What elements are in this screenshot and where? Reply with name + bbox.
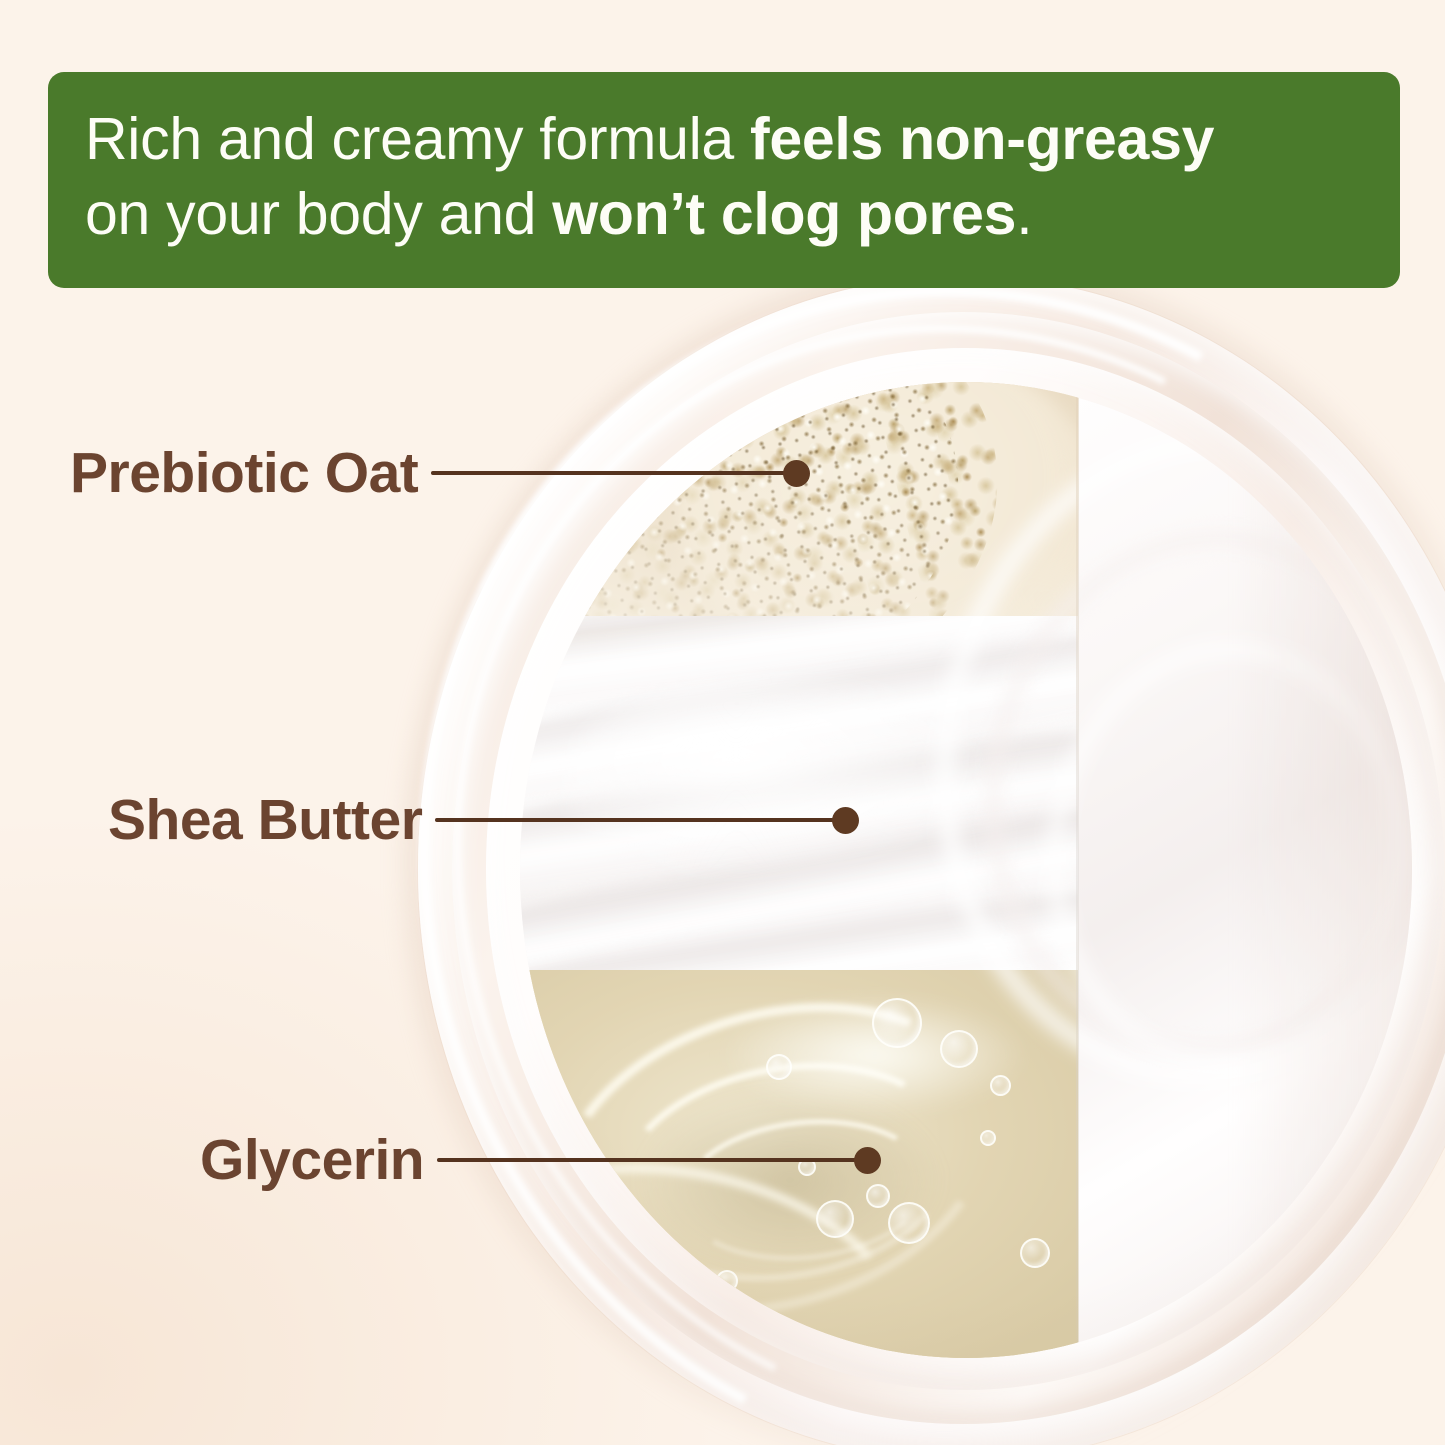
glycerin-bubble xyxy=(980,1130,996,1146)
callout-prebiotic-oat: Prebiotic Oat xyxy=(70,443,810,503)
glycerin-bubble xyxy=(888,1202,930,1244)
headline-text: Rich and creamy formula feels non-greasy… xyxy=(85,102,1360,252)
headline-line1-bold: feels non-greasy xyxy=(750,106,1214,172)
headline-line2-bold: won’t clog pores xyxy=(552,181,1016,247)
callout-label: Prebiotic Oat xyxy=(70,445,418,502)
callout-label: Glycerin xyxy=(200,1132,424,1189)
product-infographic: Rich and creamy formula feels non-greasy… xyxy=(0,0,1445,1445)
headline-line1-plain: Rich and creamy formula xyxy=(85,106,750,172)
glycerin-bubble xyxy=(940,1030,978,1068)
headline-line2-tail: . xyxy=(1016,181,1032,247)
glycerin-bubble xyxy=(872,998,922,1048)
callout-dot-icon xyxy=(854,1147,881,1174)
glycerin-bubble xyxy=(716,1270,738,1292)
shea-highlight xyxy=(560,676,1000,886)
segment-seam xyxy=(1076,382,1079,1358)
leader-line xyxy=(437,1158,857,1162)
glycerin-bubble xyxy=(766,1054,792,1080)
segment-whipped-cream xyxy=(1078,382,1412,1358)
leader-line xyxy=(435,818,835,822)
callout-dot-icon xyxy=(783,460,810,487)
callout-dot-icon xyxy=(832,807,859,834)
cream-shadow xyxy=(1232,382,1412,1358)
headline-banner: Rich and creamy formula feels non-greasy… xyxy=(48,72,1400,288)
glycerin-bubble xyxy=(990,1075,1011,1096)
callout-shea-butter: Shea Butter xyxy=(108,790,859,850)
callout-label: Shea Butter xyxy=(108,792,422,849)
callout-glycerin: Glycerin xyxy=(200,1130,881,1190)
leader-line xyxy=(431,471,786,475)
glycerin-bubble xyxy=(1020,1238,1050,1268)
jar-opening xyxy=(520,382,1412,1358)
glycerin-bubble xyxy=(816,1200,854,1238)
headline-line2-plain: on your body and xyxy=(85,181,552,247)
